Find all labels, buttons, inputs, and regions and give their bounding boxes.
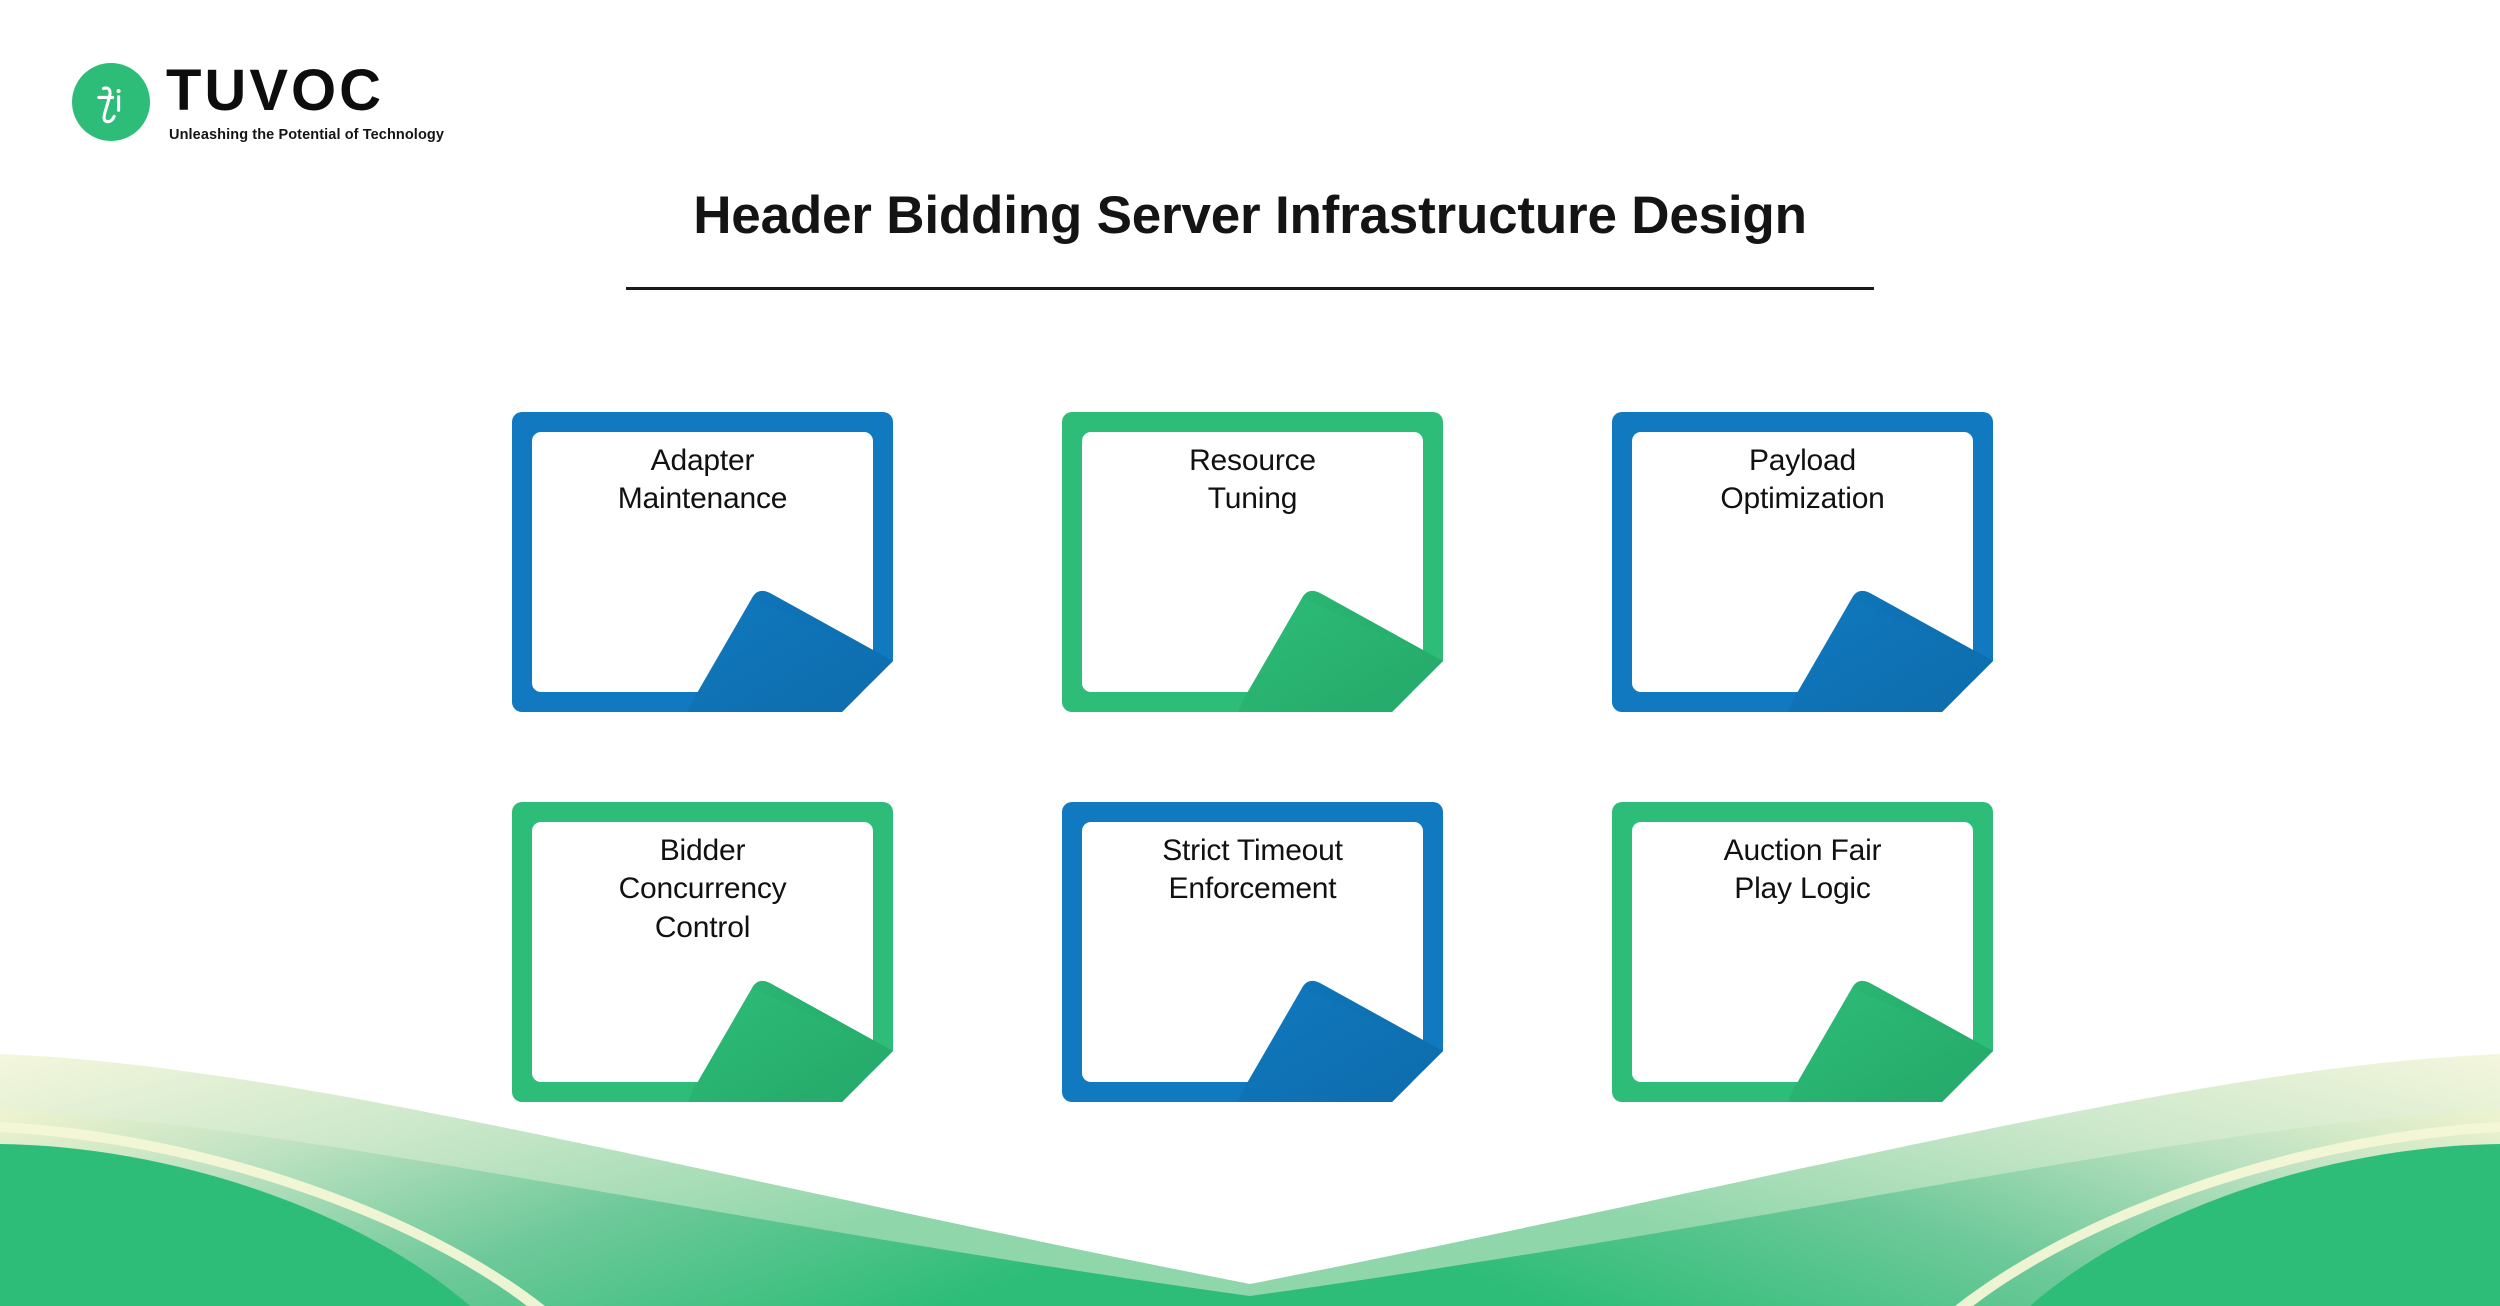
title-block: Header Bidding Server Infrastructure Des… (0, 186, 2500, 290)
card-strict-timeout-enforcement[interactable]: Strict Timeout Enforcement (1062, 802, 1443, 1102)
title-divider (626, 287, 1874, 290)
slide-canvas: TUVOC Unleashing the Potential of Techno… (0, 0, 2500, 1306)
folded-note-shape (1612, 802, 1993, 1102)
tuvoc-monogram-icon (72, 63, 150, 141)
folded-note-shape (512, 412, 893, 712)
brand-text: TUVOC Unleashing the Potential of Techno… (166, 60, 444, 143)
card-payload-optimization[interactable]: Payload Optimization (1612, 412, 1993, 712)
folded-note-shape (1612, 412, 1993, 712)
card-bidder-concurrency-control[interactable]: Bidder Concurrency Control (512, 802, 893, 1102)
brand-tagline: Unleashing the Potential of Technology (166, 127, 444, 143)
card-resource-tuning[interactable]: Resource Tuning (1062, 412, 1443, 712)
page-title: Header Bidding Server Infrastructure Des… (0, 186, 2500, 245)
brand-wordmark: TUVOC (166, 62, 444, 120)
card-adapter-maintenance[interactable]: Adapter Maintenance (512, 412, 893, 712)
folded-note-shape (512, 802, 893, 1102)
brand-logo: TUVOC Unleashing the Potential of Techno… (72, 60, 444, 143)
card-grid: Adapter Maintenance (512, 412, 1992, 1102)
card-auction-fair-play-logic[interactable]: Auction Fair Play Logic (1612, 802, 1993, 1102)
folded-note-shape (1062, 802, 1443, 1102)
folded-note-shape (1062, 412, 1443, 712)
